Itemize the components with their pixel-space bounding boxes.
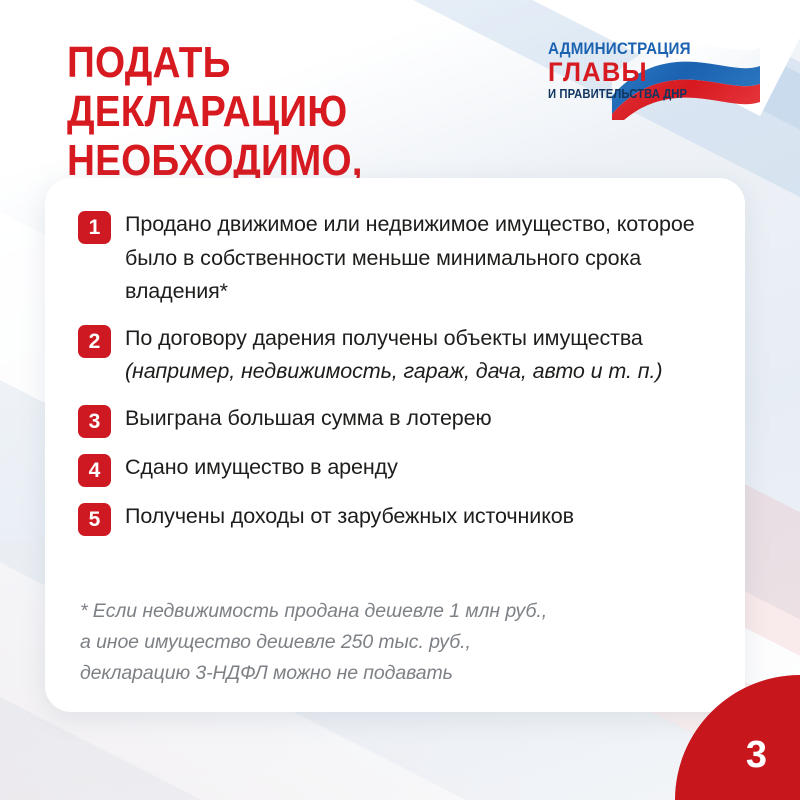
list-item-badge: 4 bbox=[78, 454, 111, 487]
organization-logo: Администрация Главы и Правительства ДНР bbox=[548, 38, 763, 120]
list-item-badge: 1 bbox=[78, 211, 111, 244]
logo-line-government: и Правительства ДНР bbox=[548, 87, 683, 102]
logo-line-head: Главы bbox=[548, 58, 691, 87]
list-item-text-segment: Сдано имущество в аренду bbox=[125, 455, 398, 479]
list-item-text-segment: Выиграна большая сумма в лотерею bbox=[125, 406, 492, 430]
poster-header: Подать декларацию необходимо, если: bbox=[0, 0, 800, 170]
page-number: 3 bbox=[746, 736, 767, 774]
content-card: 1Продано движимое или недвижимое имущест… bbox=[45, 178, 745, 712]
list-item-text-segment: (например, недвижимость, гараж, дача, ав… bbox=[125, 359, 662, 383]
list-item-badge: 3 bbox=[78, 405, 111, 438]
list-item: 1Продано движимое или недвижимое имущест… bbox=[78, 208, 723, 309]
footnote-text: * Если недвижимость продана дешевле 1 мл… bbox=[80, 596, 700, 689]
list-item-text-segment: По договору дарения получены объекты иму… bbox=[125, 326, 643, 350]
list-item-badge: 5 bbox=[78, 503, 111, 536]
list-item: 4Сдано имущество в аренду bbox=[78, 451, 723, 487]
list-item-text: Выиграна большая сумма в лотерею bbox=[125, 402, 492, 436]
list-item-badge: 2 bbox=[78, 325, 111, 358]
list-item: 3Выиграна большая сумма в лотерею bbox=[78, 402, 723, 438]
list-item-text: Получены доходы от зарубежных источников bbox=[125, 500, 574, 534]
list-item-text: По договору дарения получены объекты иму… bbox=[125, 322, 723, 389]
logo-line-administration: Администрация bbox=[548, 40, 686, 58]
list-item-text: Сдано имущество в аренду bbox=[125, 451, 398, 485]
logo-text-block: Администрация Главы и Правительства ДНР bbox=[548, 40, 698, 102]
list-item: 5Получены доходы от зарубежных источнико… bbox=[78, 500, 723, 536]
requirements-list: 1Продано движимое или недвижимое имущест… bbox=[78, 208, 723, 549]
infographic-poster: Подать декларацию необходимо, если: bbox=[0, 0, 800, 800]
list-item-text-segment: Получены доходы от зарубежных источников bbox=[125, 504, 574, 528]
list-item: 2По договору дарения получены объекты им… bbox=[78, 322, 723, 389]
list-item-text: Продано движимое или недвижимое имуществ… bbox=[125, 208, 723, 309]
list-item-text-segment: Продано движимое или недвижимое имуществ… bbox=[125, 212, 695, 303]
